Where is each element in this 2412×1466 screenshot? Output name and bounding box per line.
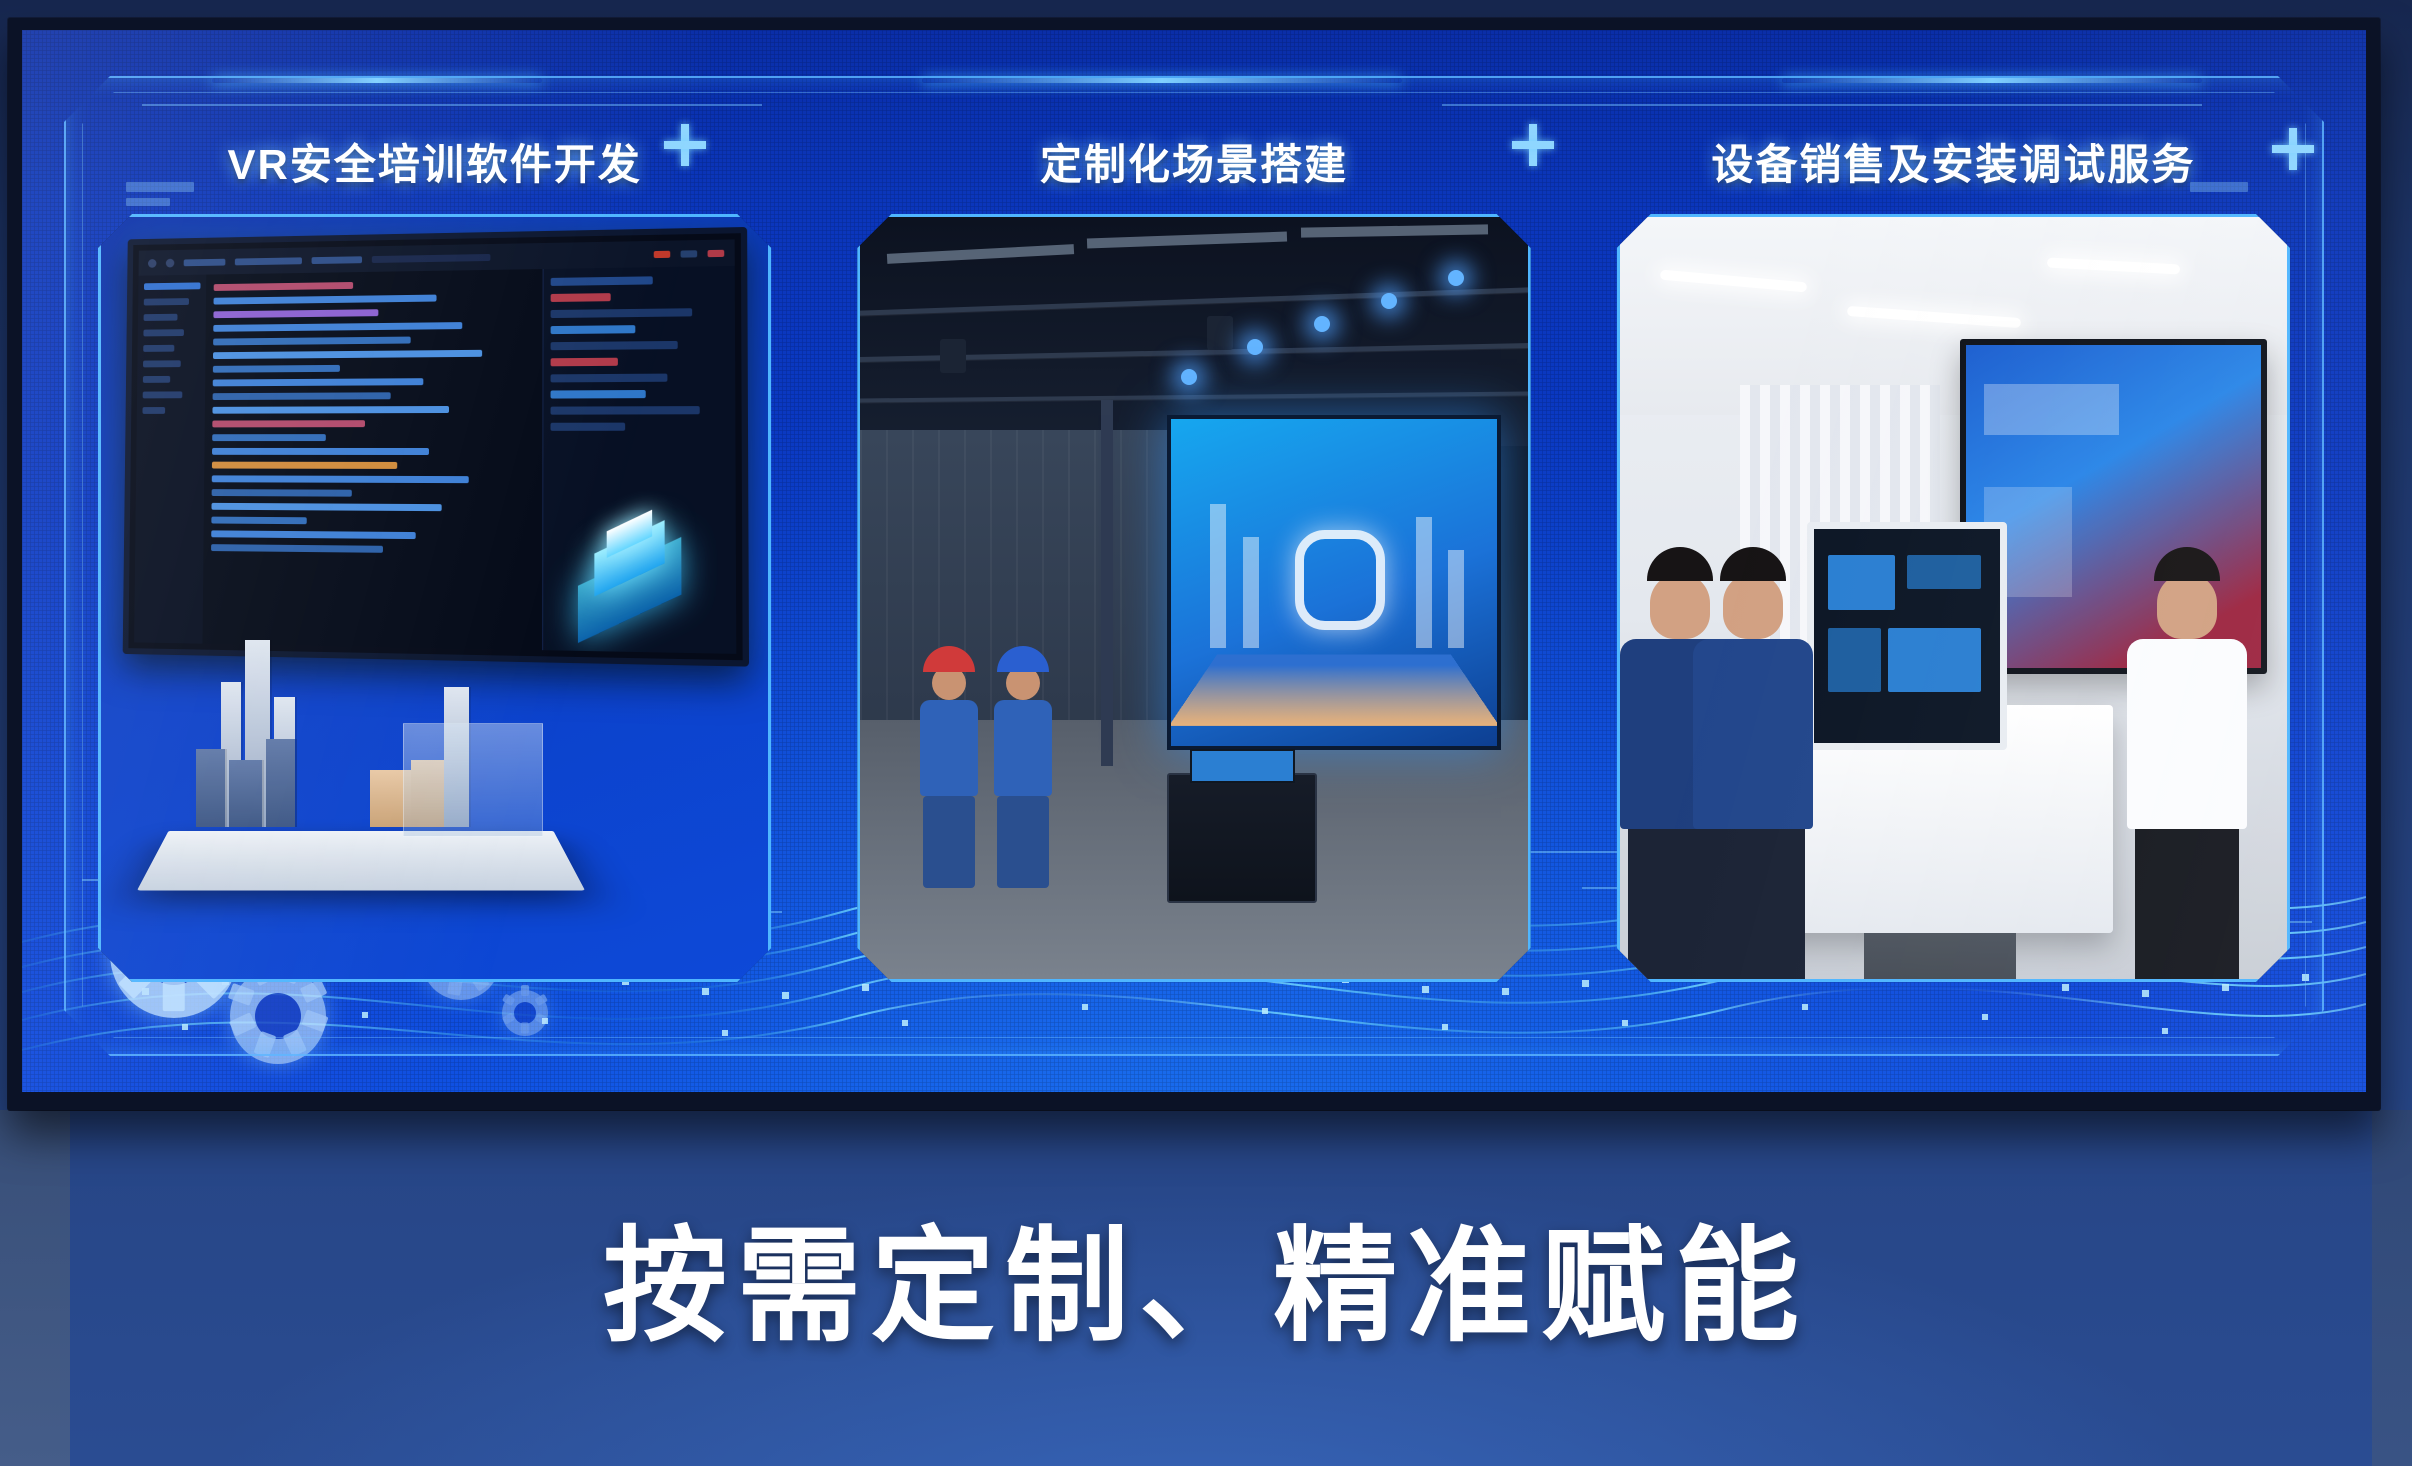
panel-title-equipment-sales: 设备销售及安装调试服务 [1611,122,2296,208]
panel-title-custom-scene: 定制化场景搭建 [851,122,1536,208]
showroom-console-demo-with-three-people [1620,217,2287,979]
worker-red-helmet [920,646,978,888]
equipment-cart [1167,773,1317,903]
panel-vr-software[interactable]: VR安全培训软件开发 [92,122,777,982]
ide-body [134,266,736,654]
control-console-unit [1807,522,2007,751]
panel-equipment-sales[interactable]: 设备销售及安装调试服务 [1611,122,2296,982]
model-base-plate [137,831,585,890]
stage-spotlight [1181,369,1197,385]
hud-glow-bar-center [922,78,1402,83]
led-projection-screen [1167,415,1501,750]
truss-column [1101,400,1113,766]
exhibition-display-stage: VR安全培训软件开发 [0,0,2412,1466]
ceiling-light-fixture [940,339,966,373]
service-panels: VR安全培训软件开发 [92,122,2296,982]
ide-inspector-panel [543,266,737,654]
model-block [266,739,295,827]
cart-monitor [1190,749,1295,783]
ceiling-light-fixture [1207,316,1233,350]
isometric-factory-model [154,682,568,941]
stage-spotlight [1448,270,1464,286]
warehouse-led-screen-with-two-workers [860,217,1527,979]
warehouse-roof [860,217,1527,446]
hologram-cube-icon [568,514,692,628]
panel-title-vr-software: VR安全培训软件开发 [92,122,777,208]
hud-glow-bar-left [212,78,542,83]
ide-sidebar [134,275,207,644]
ide-code-area [203,269,543,650]
worker-blue-helmet [994,646,1052,888]
ide-window [134,240,736,654]
page-headline: 按需定制、精准赋能 [0,1185,2412,1365]
staff-blue-polo-presenting [1693,547,1813,979]
panel-custom-scene[interactable]: 定制化场景搭建 [851,122,1536,982]
customer-white-shirt [2127,547,2247,979]
hud-line-top-a [142,104,762,106]
led-wall-screen: VR安全培训软件开发 [22,30,2366,1092]
hud-line-top-b [1442,104,2202,106]
stage-spotlight [1381,293,1397,309]
panel-media-equipment-sales[interactable] [1617,214,2290,982]
vr-scene-road [1169,655,1499,727]
model-block [229,760,262,827]
panel-media-custom-scene[interactable] [857,214,1530,982]
vr-scene-ring [1295,530,1385,630]
hud-glow-bar-right [1782,78,2202,83]
panel-media-vr-software[interactable] [98,214,771,982]
model-block [196,749,225,827]
code-editor-and-3d-factory-model [101,217,768,979]
model-glass-enclosure [403,723,544,837]
monitor [123,227,750,666]
